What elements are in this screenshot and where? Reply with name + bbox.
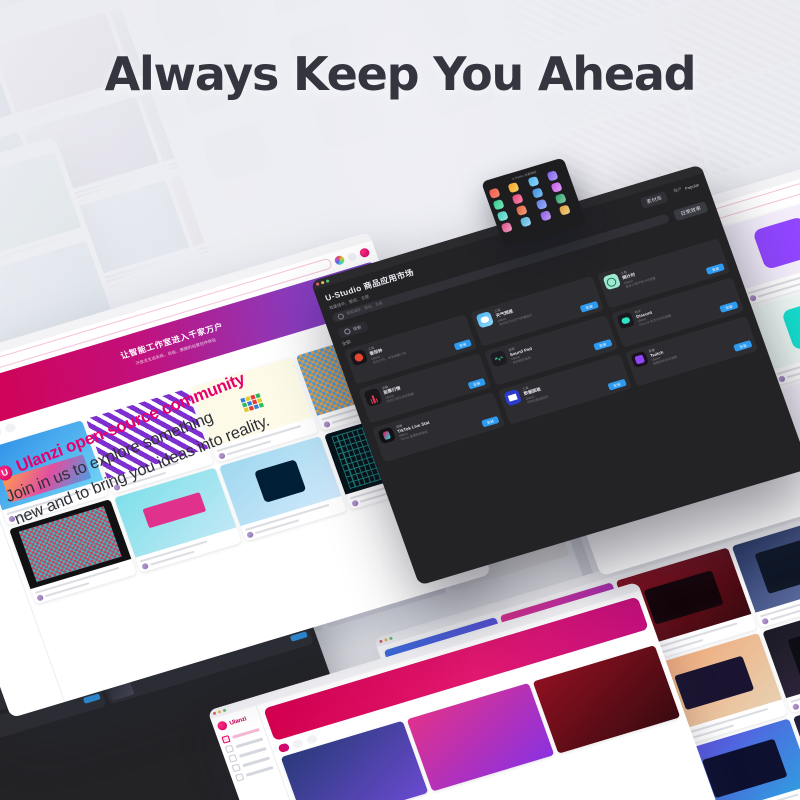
discord-icon	[616, 312, 635, 330]
close-icon[interactable]	[316, 282, 320, 286]
install-button[interactable]: 安装	[607, 379, 626, 391]
ulanzi-logo-icon	[216, 720, 228, 731]
ulanzi-logo-icon: U	[0, 463, 14, 482]
device-key[interactable]	[516, 205, 528, 216]
install-button[interactable]: 安装	[719, 301, 738, 313]
install-button[interactable]: 安装	[733, 340, 752, 352]
device-icon	[235, 773, 244, 782]
device-key[interactable]	[535, 199, 547, 210]
device-key[interactable]	[546, 170, 558, 181]
page-headline: Always Keep You Ahead	[0, 47, 800, 101]
search-icon	[337, 312, 345, 320]
tab-materials[interactable]: 素材库	[640, 191, 669, 209]
device-key[interactable]	[508, 182, 520, 193]
twitch-icon	[752, 216, 800, 269]
device-key[interactable]	[489, 188, 501, 199]
filter-pill-recommended[interactable]	[0, 427, 3, 438]
store-icon	[221, 735, 230, 744]
soundpad-icon	[490, 350, 509, 368]
filter-pill-downloads[interactable]	[4, 423, 17, 434]
avatar[interactable]	[359, 247, 371, 258]
device-key[interactable]	[520, 216, 532, 227]
filter-pill-recommended[interactable]	[292, 738, 305, 749]
install-button[interactable]: 安装	[706, 263, 725, 275]
folder-icon	[225, 745, 234, 754]
device-key[interactable]	[558, 205, 570, 216]
device-key[interactable]	[501, 222, 513, 233]
device-key[interactable]	[497, 210, 509, 221]
weather-icon	[476, 311, 495, 329]
device-key[interactable]	[527, 176, 539, 187]
notification-icon[interactable]	[347, 251, 358, 261]
device-key[interactable]	[554, 193, 566, 204]
mini-device-keypad[interactable]	[489, 168, 578, 233]
device-key[interactable]	[539, 210, 551, 221]
chart-icon	[504, 389, 523, 407]
filter-pill-all[interactable]	[278, 743, 291, 754]
color-wheel-icon[interactable]	[334, 255, 346, 266]
install-button[interactable]: 安装	[481, 416, 500, 428]
tiktok-icon	[377, 427, 396, 445]
countdown-icon	[602, 273, 621, 291]
device-key[interactable]	[493, 199, 505, 210]
install-button[interactable]: 安装	[593, 339, 612, 351]
account-value[interactable]: Popular	[684, 182, 699, 191]
device-key[interactable]	[550, 182, 562, 193]
filter-pill-downloads[interactable]	[306, 734, 319, 745]
maximize-icon[interactable]	[326, 279, 330, 283]
camera-icon	[781, 297, 800, 350]
theme-icon	[232, 764, 241, 773]
device-key[interactable]	[512, 193, 524, 204]
twitch-icon	[630, 351, 649, 369]
device-key[interactable]	[531, 188, 543, 199]
install-button[interactable]: 安装	[453, 339, 472, 351]
minimize-icon[interactable]	[321, 281, 325, 285]
poster-stage: Ulanzi	[0, 0, 800, 800]
install-button[interactable]: 安装	[467, 378, 486, 390]
account-label: 账户	[673, 186, 683, 194]
logo-text: Ulanzi	[229, 716, 248, 727]
plugin-icon	[228, 754, 237, 763]
install-button[interactable]: 安装	[579, 301, 598, 313]
